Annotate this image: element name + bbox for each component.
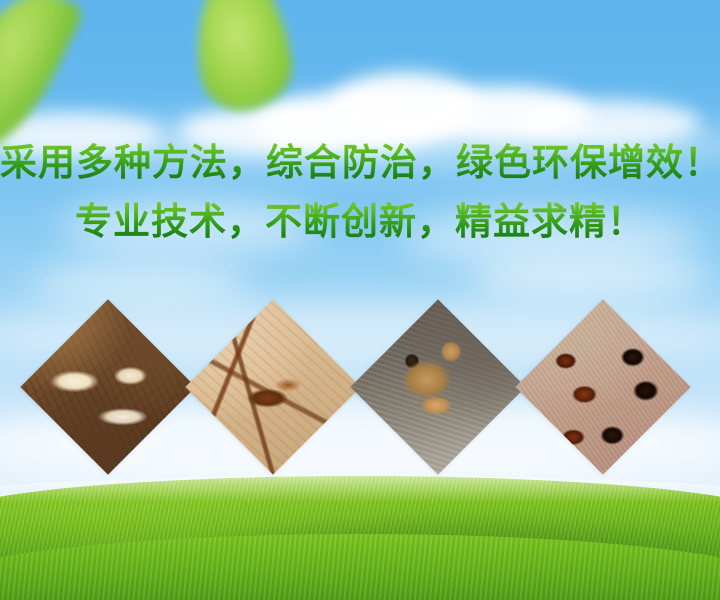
grass-foreground [0,460,720,600]
grass-hill-front [0,534,720,600]
cloud-shape [470,255,710,301]
headline-line-2: 专业技术，不断创新，精益求精！ [0,199,720,244]
grass-edge-highlight [0,476,720,502]
cloud-shape [30,262,250,306]
headline-block: 采用多种方法，综合防治，绿色环保增效！ 专业技术，不断创新，精益求精！ [0,140,720,244]
pest-control-banner: 采用多种方法，综合防治，绿色环保增效！ 专业技术，不断创新，精益求精！ [0,0,720,600]
headline-line-1: 采用多种方法，综合防治，绿色环保增效！ [0,140,720,185]
